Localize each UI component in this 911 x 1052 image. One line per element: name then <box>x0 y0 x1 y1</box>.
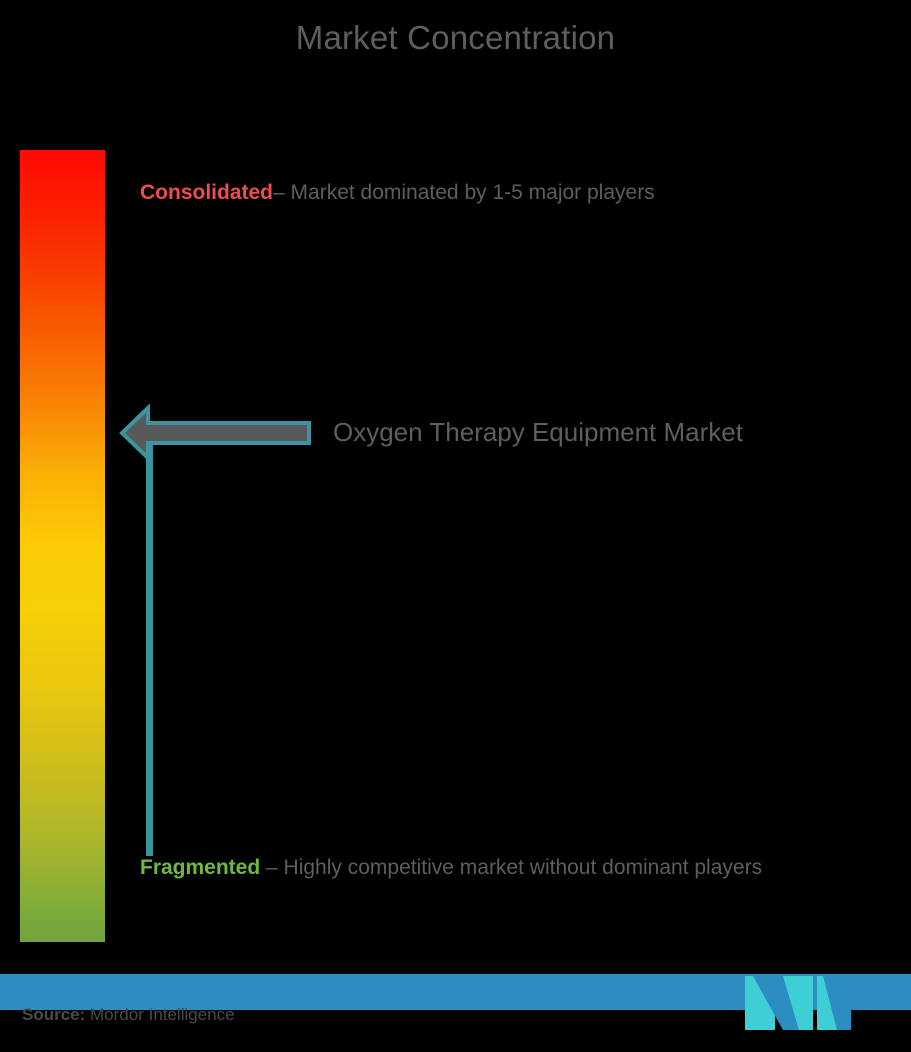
caption-consolidated-text: – Market dominated by 1-5 major players <box>273 181 655 204</box>
marker-label: Oxygen Therapy Equipment Market <box>333 413 743 451</box>
source-label: Source: <box>22 1005 85 1024</box>
marker-arrow-icon <box>118 402 313 464</box>
source-value: Mordor Intelligence <box>85 1005 234 1024</box>
caption-fragmented: Fragmented – Highly competitive market w… <box>140 838 880 898</box>
marker-connector-line <box>146 432 153 856</box>
market-concentration-gradient-bar <box>20 150 105 942</box>
mordor-intelligence-logo-icon <box>745 968 860 1034</box>
caption-consolidated-keyword: Consolidated <box>140 181 273 204</box>
caption-fragmented-keyword: Fragmented <box>140 856 260 879</box>
caption-fragmented-text: – Highly competitive market without domi… <box>260 856 762 879</box>
page-title: Market Concentration <box>0 18 911 58</box>
caption-consolidated: Consolidated– Market dominated by 1-5 ma… <box>140 163 840 223</box>
source-attribution: Source: Mordor Intelligence <box>22 1003 235 1027</box>
